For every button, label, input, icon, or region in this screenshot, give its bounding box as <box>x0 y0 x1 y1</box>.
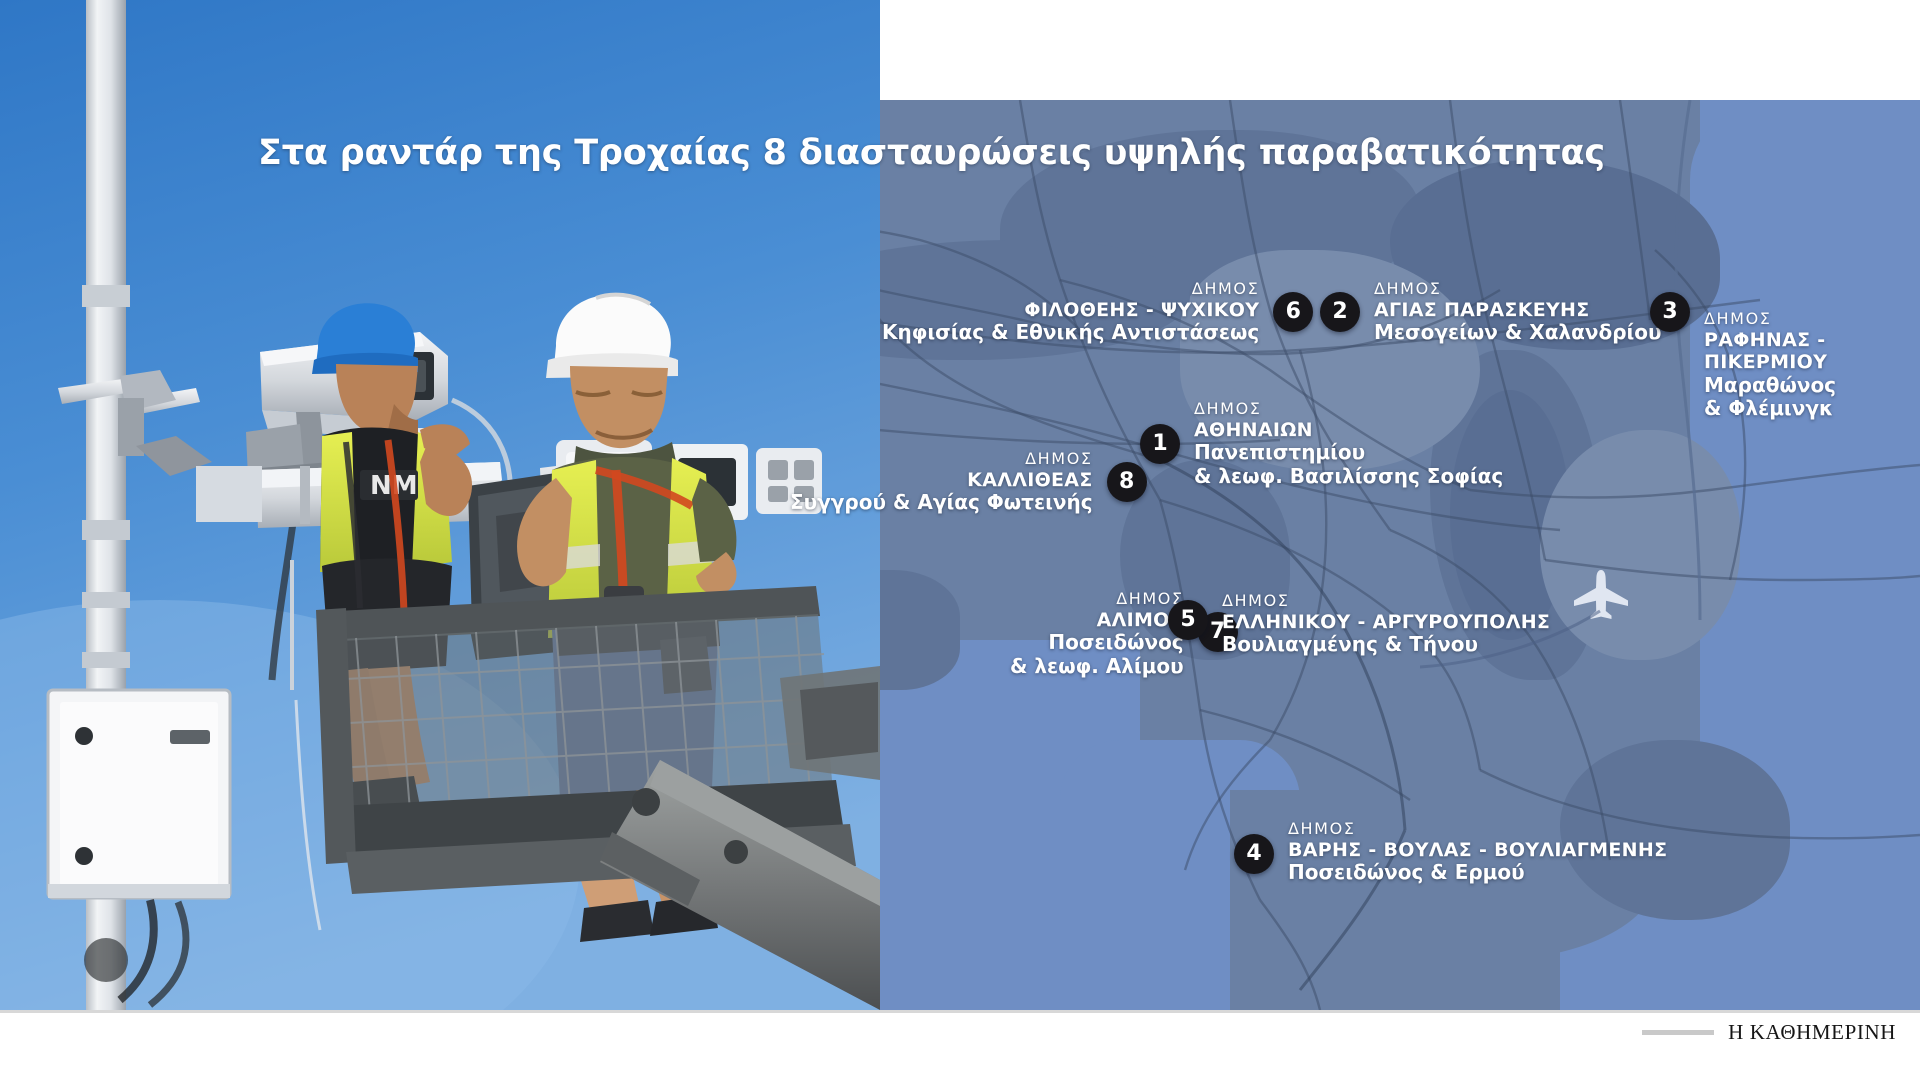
poi-7-street-line2: & λεωφ. Αλίμου <box>1010 655 1184 679</box>
poi-8-street: Συγγρού & Αγίας Φωτεινής <box>790 491 1093 515</box>
masthead-rule <box>1642 1030 1714 1035</box>
poi-2-badge[interactable]: 2 <box>1320 292 1360 332</box>
poi-8-badge[interactable]: 8 <box>1107 462 1147 502</box>
poi-2-municipality: ΑΓΙΑΣ ΠΑΡΑΣΚΕΥΗΣ <box>1374 299 1662 321</box>
poi-6-municipality: ΦΙΛΟΘΕΗΣ - ΨΥΧΙΚΟΥ <box>882 299 1259 321</box>
poi-8-kicker: ΔΗΜΟΣ <box>790 450 1093 469</box>
poi-3-kicker: ΔΗΜΟΣ <box>1704 310 1854 329</box>
poi-8-municipality: ΚΑΛΛΙΘΕΑΣ <box>790 469 1093 491</box>
poi-3-municipality-line1: ΡΑΦΗΝΑΣ - ΠΙΚΕΡΜΙΟΥ <box>1704 329 1854 374</box>
poi-4-badge[interactable]: 4 <box>1234 834 1274 874</box>
poi-1-street-line1: Πανεπιστημίου <box>1194 441 1503 465</box>
infographic-canvas: Στα ραντάρ της Τροχαίας 8 διασταυρώσεις … <box>0 0 1920 1080</box>
poi-5-kicker: ΔΗΜΟΣ <box>1222 592 1550 611</box>
poi-4-label: ΔΗΜΟΣ ΒΑΡΗΣ - ΒΟΥΛΑΣ - ΒΟΥΛΙΑΓΜΕΝΗΣ Ποσε… <box>1288 820 1667 885</box>
poi-5-badge[interactable]: 5 <box>1168 600 1208 640</box>
footer: Η ΚΑΘΗΜΕΡΙΝΗ <box>0 1010 1920 1080</box>
poi-6-label: ΔΗΜΟΣ ΦΙΛΟΘΕΗΣ - ΨΥΧΙΚΟΥ Κηφισίας & Εθνι… <box>882 280 1259 345</box>
poi-2-street: Μεσογείων & Χαλανδρίου <box>1374 321 1662 345</box>
poi-7-kicker: ΔΗΜΟΣ <box>1010 590 1184 609</box>
poi-4-municipality: ΒΑΡΗΣ - ΒΟΥΛΑΣ - ΒΟΥΛΙΑΓΜΕΝΗΣ <box>1288 839 1667 861</box>
poi-4-street: Ποσειδώνος & Ερμού <box>1288 861 1667 885</box>
poi-7-municipality: ΑΛΙΜΟΥ <box>1010 609 1184 631</box>
poi-6-street: Κηφισίας & Εθνικής Αντιστάσεως <box>882 321 1259 345</box>
poi-2-label: ΔΗΜΟΣ ΑΓΙΑΣ ΠΑΡΑΣΚΕΥΗΣ Μεσογείων & Χαλαν… <box>1374 280 1662 345</box>
poi-6-badge[interactable]: 6 <box>1273 292 1313 332</box>
poi-5-elliniko-argyroupoli[interactable]: 5 ΔΗΜΟΣ ΕΛΛΗΝΙΚΟΥ - ΑΡΓΥΡΟΥΠΟΛΗΣ Βουλιαγ… <box>1168 592 1550 657</box>
map-peninsula-tip <box>1245 890 1365 1010</box>
poi-1-kicker: ΔΗΜΟΣ <box>1194 400 1503 419</box>
poi-3-rafina-pikermi[interactable]: 3 ΔΗΜΟΣ ΡΑΦΗΝΑΣ - ΠΙΚΕΡΜΙΟΥ Μαραθώνος & … <box>1650 292 1854 421</box>
poi-6-filothei-psychiko[interactable]: ΔΗΜΟΣ ΦΙΛΟΘΕΗΣ - ΨΥΧΙΚΟΥ Κηφισίας & Εθνι… <box>882 280 1313 345</box>
poi-1-street-line2: & λεωφ. Βασιλίσσης Σοφίας <box>1194 465 1503 489</box>
poi-3-label: ΔΗΜΟΣ ΡΑΦΗΝΑΣ - ΠΙΚΕΡΜΙΟΥ Μαραθώνος & Φλ… <box>1704 310 1854 421</box>
masthead: Η ΚΑΘΗΜΕΡΙΝΗ <box>1642 1020 1896 1045</box>
page-title: Στα ραντάρ της Τροχαίας 8 διασταυρώσεις … <box>258 133 1605 173</box>
poi-3-street-line1: Μαραθώνος <box>1704 374 1854 398</box>
footer-rule <box>0 1010 1920 1013</box>
poi-1-label: ΔΗΜΟΣ ΑΘΗΝΑΙΩΝ Πανεπιστημίου & λεωφ. Βασ… <box>1194 400 1503 488</box>
poi-3-badge[interactable]: 3 <box>1650 292 1690 332</box>
poi-6-kicker: ΔΗΜΟΣ <box>882 280 1259 299</box>
poi-8-kallithea[interactable]: ΔΗΜΟΣ ΚΑΛΛΙΘΕΑΣ Συγγρού & Αγίας Φωτεινής… <box>790 450 1147 515</box>
poi-7-label: ΔΗΜΟΣ ΑΛΙΜΟΥ Ποσειδώνος & λεωφ. Αλίμου <box>1010 590 1184 678</box>
poi-7-street-line1: Ποσειδώνος <box>1010 631 1184 655</box>
poi-1-athens[interactable]: 1 ΔΗΜΟΣ ΑΘΗΝΑΙΩΝ Πανεπιστημίου & λεωφ. Β… <box>1140 400 1503 488</box>
poi-5-municipality: ΕΛΛΗΝΙΚΟΥ - ΑΡΓΥΡΟΥΠΟΛΗΣ <box>1222 611 1550 633</box>
poi-2-agia-paraskevi[interactable]: 2 ΔΗΜΟΣ ΑΓΙΑΣ ΠΑΡΑΣΚΕΥΗΣ Μεσογείων & Χαλ… <box>1320 280 1662 345</box>
poi-4-kicker: ΔΗΜΟΣ <box>1288 820 1667 839</box>
poi-8-label: ΔΗΜΟΣ ΚΑΛΛΙΘΕΑΣ Συγγρού & Αγίας Φωτεινής <box>790 450 1093 515</box>
poi-4-vari-voula-vouliagmeni[interactable]: 4 ΔΗΜΟΣ ΒΑΡΗΣ - ΒΟΥΛΑΣ - ΒΟΥΛΙΑΓΜΕΝΗΣ Πο… <box>1234 820 1667 885</box>
poi-2-kicker: ΔΗΜΟΣ <box>1374 280 1662 299</box>
poi-1-municipality: ΑΘΗΝΑΙΩΝ <box>1194 419 1503 441</box>
poi-5-street: Βουλιαγμένης & Τήνου <box>1222 633 1550 657</box>
poi-3-street-line2: & Φλέμινγκ <box>1704 397 1854 421</box>
poi-5-label: ΔΗΜΟΣ ΕΛΛΗΝΙΚΟΥ - ΑΡΓΥΡΟΥΠΟΛΗΣ Βουλιαγμέ… <box>1222 592 1550 657</box>
masthead-text: Η ΚΑΘΗΜΕΡΙΝΗ <box>1728 1020 1896 1045</box>
